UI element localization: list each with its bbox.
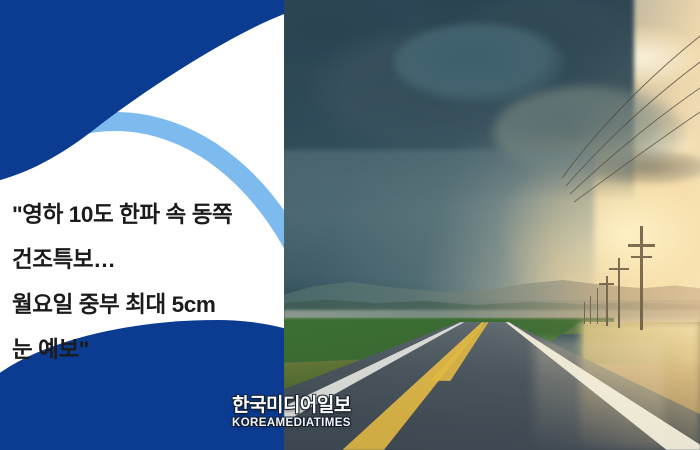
watermark-logo: 한국미디어일보 KOREAMEDIATIMES <box>232 396 351 430</box>
utility-pole-1-crossarm-lower <box>631 256 652 258</box>
headline-line-4: 눈 예보" <box>12 327 280 372</box>
utility-pole-2-crossarm <box>609 268 629 270</box>
watermark-english-name: KOREAMEDIATIMES <box>232 418 351 430</box>
utility-pole-1-crossarm <box>628 244 655 247</box>
utility-pole-4 <box>597 288 598 324</box>
headline-line-3: 월요일 중부 최대 5cm <box>12 282 280 327</box>
headline-line-2: 건조특보… <box>12 237 280 282</box>
photo-panel <box>284 0 700 450</box>
utility-pole-5 <box>590 296 591 324</box>
utility-pole-1 <box>640 226 643 330</box>
power-lines-icon <box>500 0 700 260</box>
utility-pole-6 <box>584 302 585 324</box>
watermark-korean-name: 한국미디어일보 <box>232 396 351 415</box>
text-panel: "영하 10도 한파 속 동쪽 건조특보… 월요일 중부 최대 5cm 눈 예보… <box>0 0 284 450</box>
news-card: "영하 10도 한파 속 동쪽 건조특보… 월요일 중부 최대 5cm 눈 예보… <box>0 0 700 450</box>
headline-line-1: "영하 10도 한파 속 동쪽 <box>12 192 280 237</box>
headline: "영하 10도 한파 속 동쪽 건조특보… 월요일 중부 최대 5cm 눈 예보… <box>12 192 280 372</box>
utility-pole-3-crossarm <box>599 283 614 285</box>
